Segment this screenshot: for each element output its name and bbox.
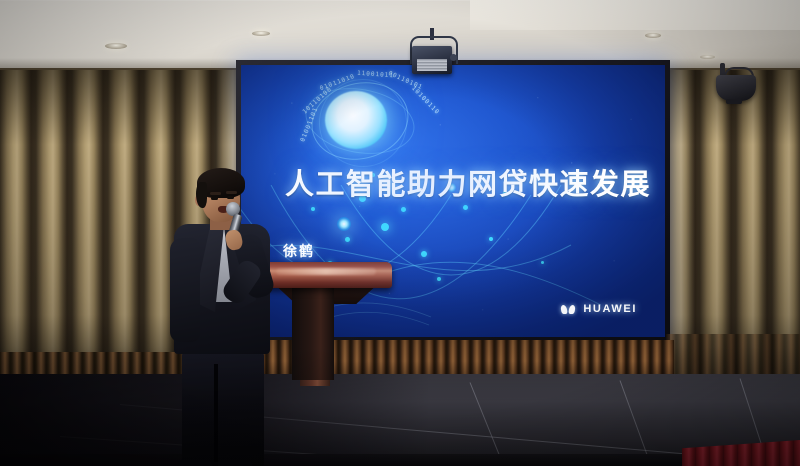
presenter xyxy=(168,168,278,466)
fixture-knob xyxy=(450,54,457,61)
presenter-arm-left xyxy=(170,238,200,342)
presenter-leg-seam xyxy=(214,364,218,462)
presenter-shoe xyxy=(218,460,252,466)
fixture-lens xyxy=(417,59,447,71)
speaker-base xyxy=(726,99,742,104)
recessed-light-icon xyxy=(645,33,661,38)
presenter-hair-side xyxy=(196,182,207,208)
lectern-top xyxy=(262,262,392,288)
presenter-legs xyxy=(182,350,264,466)
speaker-body xyxy=(716,75,756,101)
huawei-wordmark: HUAWEI xyxy=(583,303,637,315)
presenter-eyebrow xyxy=(210,192,221,195)
lectern-gloss-highlight xyxy=(276,268,376,275)
ceiling-speaker xyxy=(712,63,758,105)
recessed-light-icon xyxy=(252,31,270,36)
recessed-light-icon xyxy=(105,43,127,49)
presenter-eye xyxy=(211,197,218,200)
slide-title: 人工智能助力网贷快速发展 xyxy=(285,161,635,203)
huawei-logo: HUAWEI xyxy=(561,303,637,315)
presentation-photo-scene: 01001101 10110100 01011010 11001011 0011… xyxy=(0,0,800,466)
presenter-shoe xyxy=(178,460,212,466)
lectern-neck xyxy=(292,284,334,380)
stage-light-fixture xyxy=(404,28,460,78)
slide-speaker-name: 徐鹤 xyxy=(283,241,315,261)
huawei-petal-icon xyxy=(561,305,578,314)
ceiling-beam xyxy=(470,0,800,30)
presenter-eyebrow xyxy=(226,191,237,194)
presenter-eye xyxy=(227,196,234,199)
